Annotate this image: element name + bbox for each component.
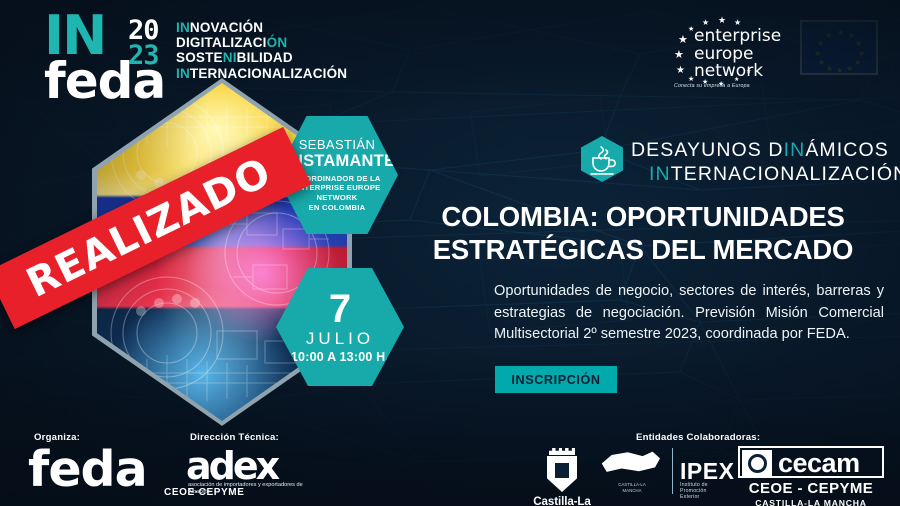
een-line-1: enterprise	[694, 28, 781, 46]
castilla-la-mancha-name: Castilla-La Mancha	[516, 495, 608, 506]
kicker-line-2: INTERNACIONALIZACIÓN	[649, 162, 900, 186]
kicker-line-1: DESAYUNOS DINÁMICOS	[631, 139, 889, 161]
cecam-name: cecam	[778, 446, 860, 480]
speaker-first-name: SEBASTIÁN	[299, 138, 376, 152]
cecam-sub-1: CEOE - CEPYME	[738, 480, 884, 497]
een-wordmark: enterprise europe network	[694, 28, 781, 81]
slogan-sostenibilidad: SOSTENIBILIDAD	[176, 50, 347, 65]
castilla-la-mancha-logo: Castilla-La Mancha	[516, 448, 608, 506]
logo-year: 20 23	[128, 18, 159, 68]
cecam-logo: cecam CEOE - CEPYME CASTILLA-LA MANCHA	[738, 446, 884, 506]
event-title: COLOMBIA: OPORTUNIDADES ESTRATÉGICAS DEL…	[400, 200, 886, 266]
direccion-tecnica-label: Dirección Técnica:	[190, 432, 279, 443]
ipex-name: IPEX	[680, 458, 734, 485]
speaker-role-line-4: EN COLOMBIA	[293, 203, 380, 213]
event-time: 10:00 A 13:00 H.	[291, 350, 389, 365]
enterprise-europe-network-logo: ★ ★ ★ ★ ★ ★ ★ ★ ★ ★ ★ ★ enterprise europ…	[666, 18, 791, 92]
speaker-role-line-3: NETWORK	[293, 193, 380, 203]
crown-icon	[549, 448, 575, 455]
event-day: 7	[329, 290, 351, 328]
slogan-digitalizacion: DIGITALIZACIÓN	[176, 35, 347, 50]
event-promo-banner: IN feda 20 23 INNOVACIÓN DIGITALIZACIÓN …	[0, 0, 900, 506]
event-description: Oportunidades de negocio, sectores de in…	[494, 281, 884, 346]
adex-logo: adex	[186, 448, 277, 484]
een-star-icon: ★	[674, 51, 684, 60]
event-month: JULIO	[306, 328, 374, 350]
cecam-mark-icon	[742, 450, 772, 476]
ipex-divider	[672, 448, 673, 494]
series-kicker-text: DESAYUNOS DINÁMICOS INTERNACIONALIZACIÓN	[631, 138, 900, 186]
ipex-sub: Instituto de Promoción Exterior	[680, 482, 724, 500]
feda-logo: feda	[28, 446, 147, 494]
logo-year-bottom: 23	[128, 43, 159, 68]
inscripcion-button[interactable]: INSCRIPCIÓN	[495, 366, 617, 393]
een-star-icon: ★	[676, 66, 685, 75]
een-star-icon: ★	[678, 36, 688, 45]
een-star-icon: ★	[718, 16, 726, 25]
cecam-sub-2: CASTILLA-LA MANCHA	[738, 498, 884, 506]
ipex-clm-mini-label: CASTILLA-LA MANCHA	[612, 482, 652, 493]
shield-icon	[547, 456, 577, 492]
een-tagline: Conecta su empresa a Europa	[674, 83, 750, 89]
cecam-wordmark-box: cecam	[738, 446, 884, 478]
entidades-colaboradoras-label: Entidades Colaboradoras:	[636, 432, 760, 443]
een-line-3: network	[694, 63, 781, 81]
inscripcion-button-label: INSCRIPCIÓN	[511, 373, 600, 387]
adex-logo-sub: asociación de importadores y exportadore…	[188, 482, 304, 496]
brand-slogan-list: INNOVACIÓN DIGITALIZACIÓN SOSTENIBILIDAD…	[176, 20, 347, 81]
slogan-innovacion: INNOVACIÓN	[176, 20, 347, 35]
